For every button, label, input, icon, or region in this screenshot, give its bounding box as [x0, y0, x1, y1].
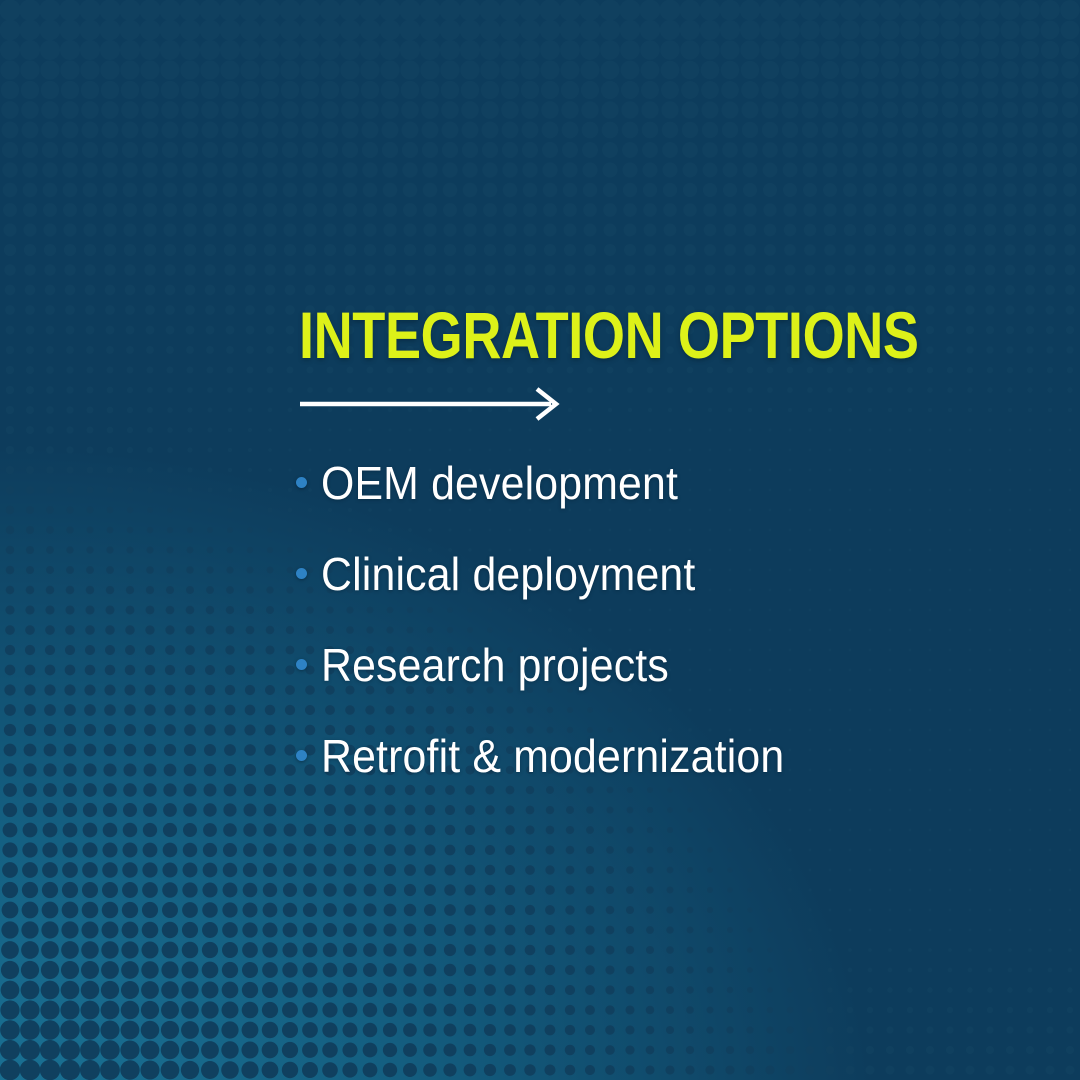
slide-content: INTEGRATION OPTIONS OEM development Clin…	[0, 0, 1080, 1080]
list-item-label: Retrofit & modernization	[321, 731, 784, 781]
list-item: Research projects	[296, 619, 1016, 710]
list-item-label: Clinical deployment	[321, 549, 695, 599]
bullet-dot-icon	[296, 750, 307, 761]
page-title: INTEGRATION OPTIONS	[299, 302, 919, 368]
slide-canvas: INTEGRATION OPTIONS OEM development Clin…	[0, 0, 1080, 1080]
list-item: Clinical deployment	[296, 528, 1016, 619]
integration-options-list: OEM development Clinical deployment Rese…	[296, 437, 1016, 801]
bullet-dot-icon	[296, 659, 307, 670]
list-item: Retrofit & modernization	[296, 710, 1016, 801]
list-item: OEM development	[296, 437, 1016, 528]
list-item-label: Research projects	[321, 640, 669, 690]
bullet-dot-icon	[296, 568, 307, 579]
bullet-dot-icon	[296, 477, 307, 488]
list-item-label: OEM development	[321, 458, 678, 508]
arrow-right-icon	[299, 386, 561, 422]
